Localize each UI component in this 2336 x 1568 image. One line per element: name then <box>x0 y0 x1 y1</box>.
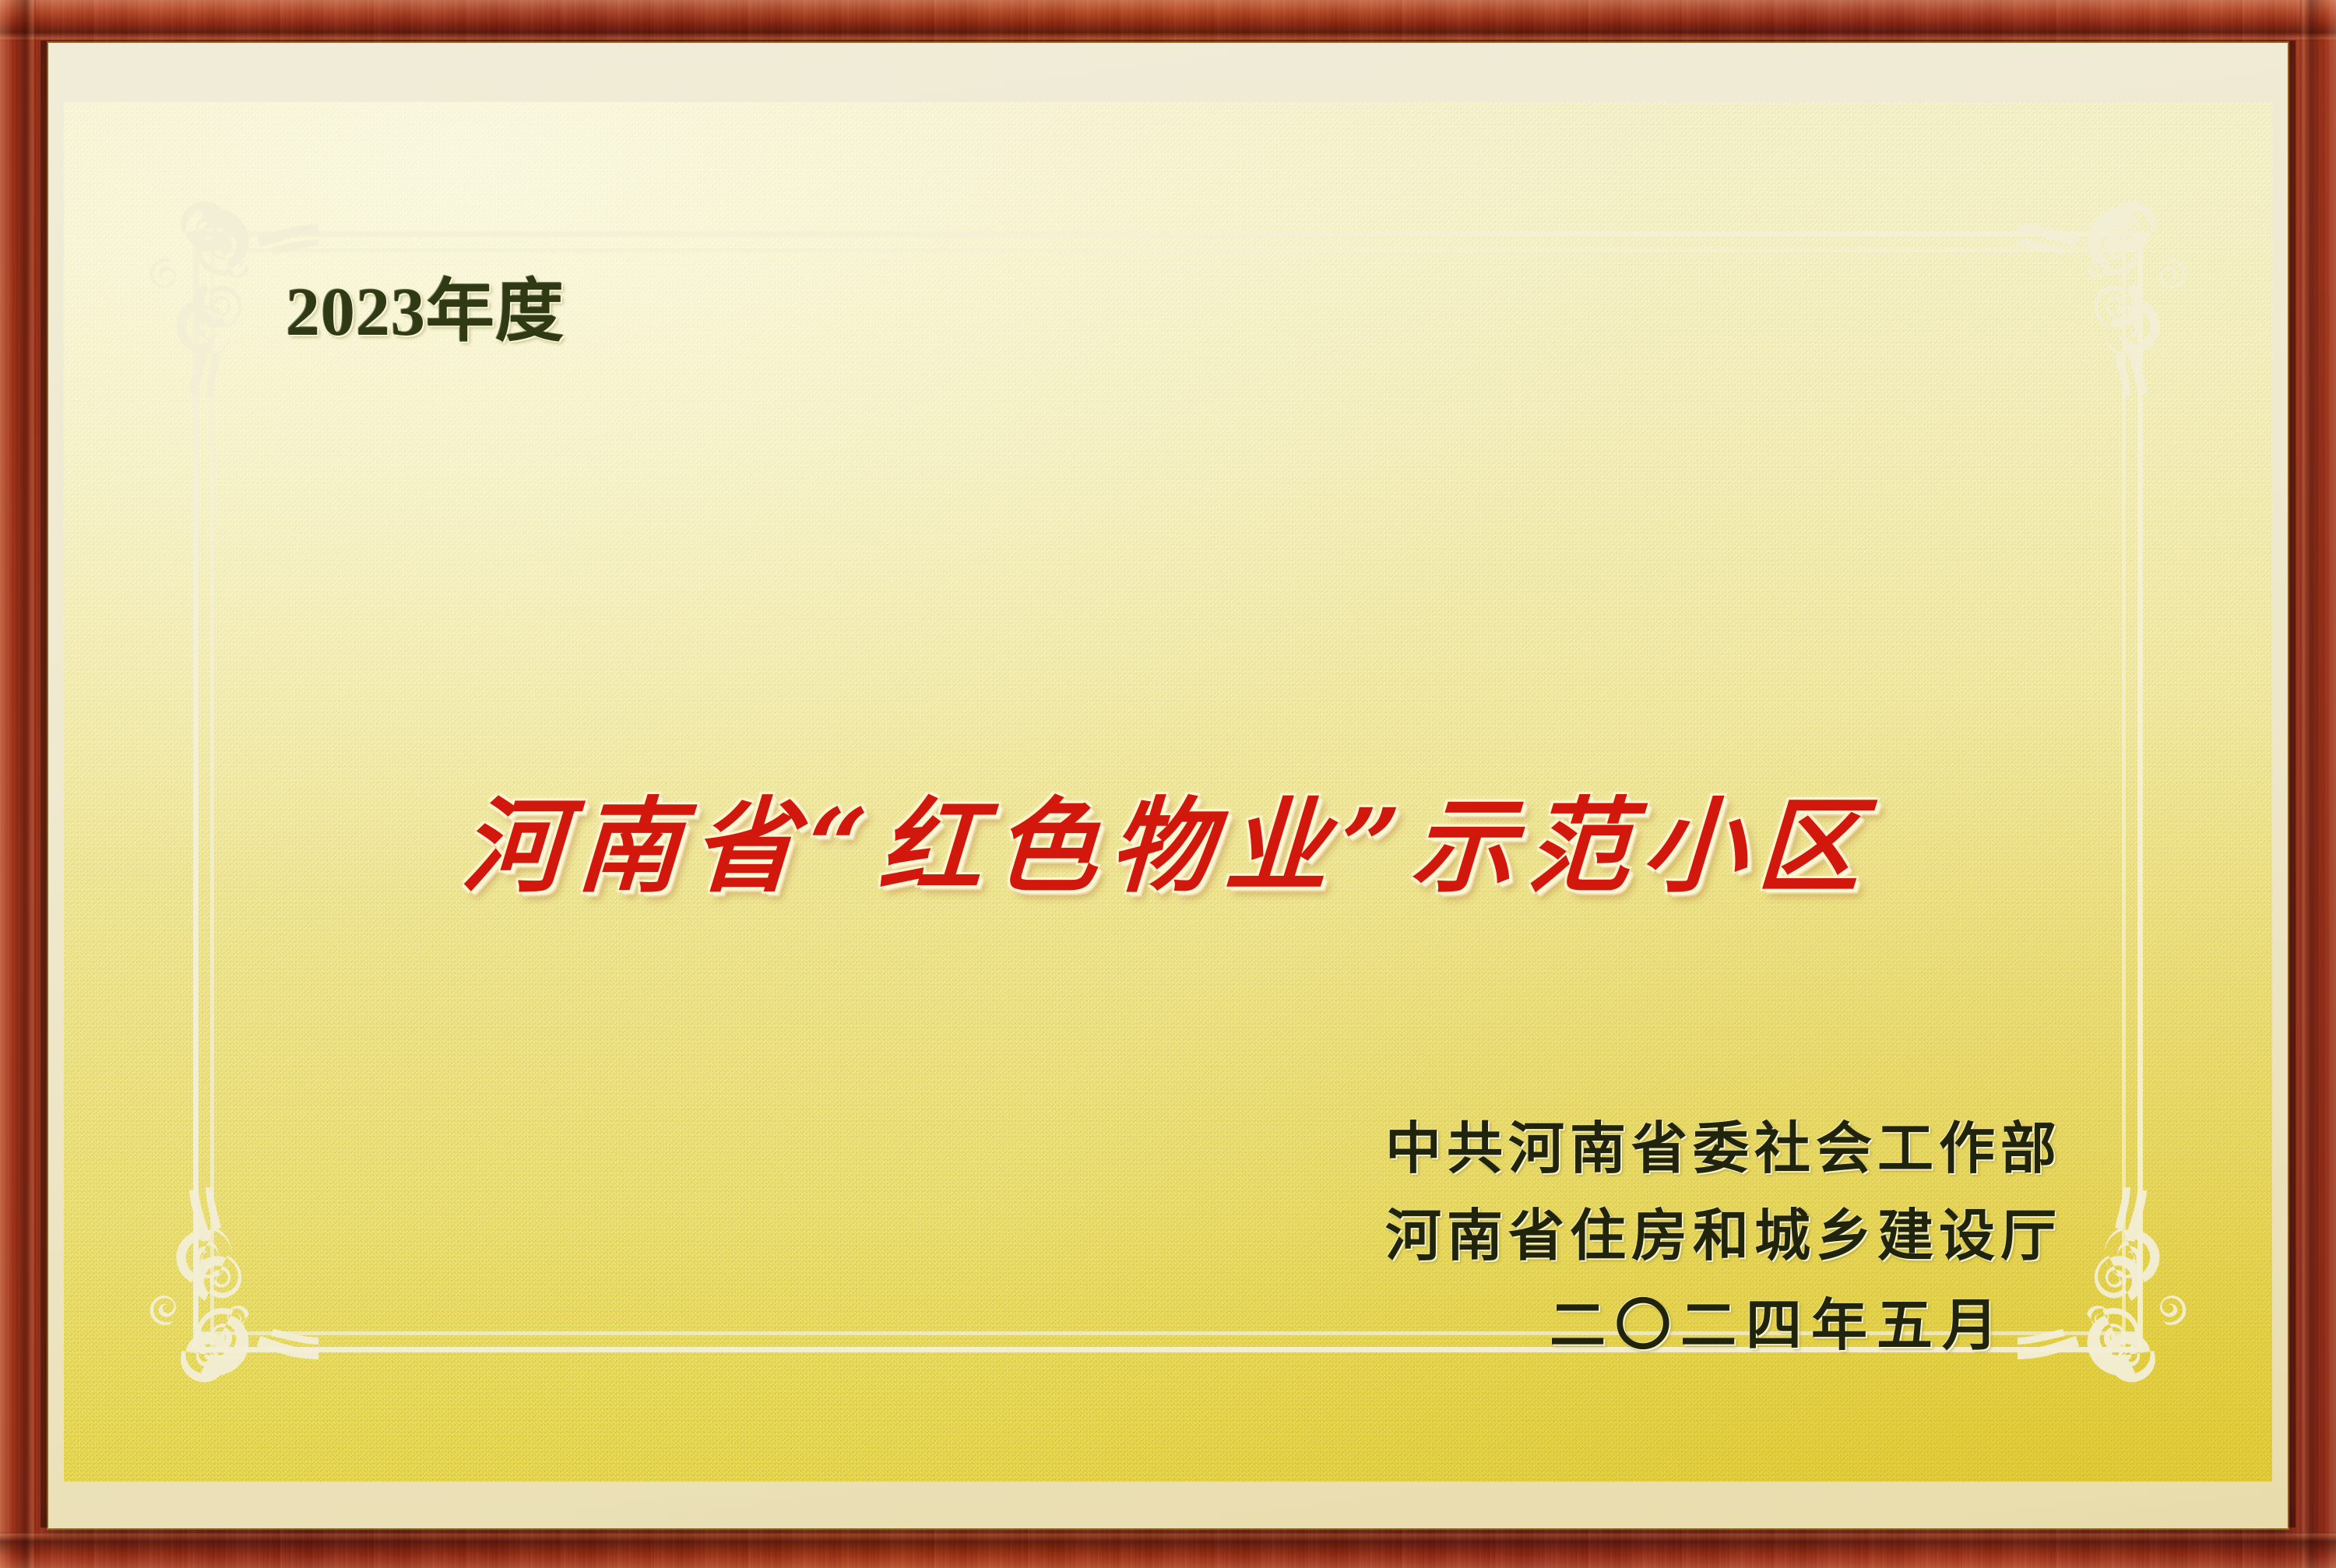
issuer-signature-block: 中共河南省委社会工作部 河南省住房和城乡建设厅 二〇二四年五月 <box>1385 1105 2062 1371</box>
corner-scroll-ornament-top-right <box>1968 146 2225 403</box>
issuer-line-1: 中共河南省委社会工作部 <box>1385 1105 2062 1192</box>
gold-plate: 2023年度 河南省“红色物业”示范小区 中共河南省委社会工作部 河南省住房和城… <box>64 102 2272 1482</box>
frame-bevel-top <box>0 0 2336 40</box>
award-plaque: 2023年度 河南省“红色物业”示范小区 中共河南省委社会工作部 河南省住房和城… <box>0 0 2336 1568</box>
rule-top-outer <box>196 231 2140 237</box>
issuer-line-2: 河南省住房和城乡建设厅 <box>1385 1192 2062 1279</box>
plate-mat-border: 2023年度 河南省“红色物业”示范小区 中共河南省委社会工作部 河南省住房和城… <box>48 43 2288 1528</box>
year-label: 2023年度 <box>286 256 565 355</box>
corner-scroll-ornament-bottom-left <box>111 1181 368 1438</box>
rule-top-inner <box>196 248 2140 252</box>
frame-bevel-bottom <box>0 1532 2336 1568</box>
frame-bevel-left <box>0 0 36 1568</box>
issue-date: 二〇二四年五月 <box>1385 1279 2062 1371</box>
award-title: 河南省“红色物业”示范小区 <box>64 764 2272 912</box>
frame-bevel-right <box>2300 0 2336 1568</box>
